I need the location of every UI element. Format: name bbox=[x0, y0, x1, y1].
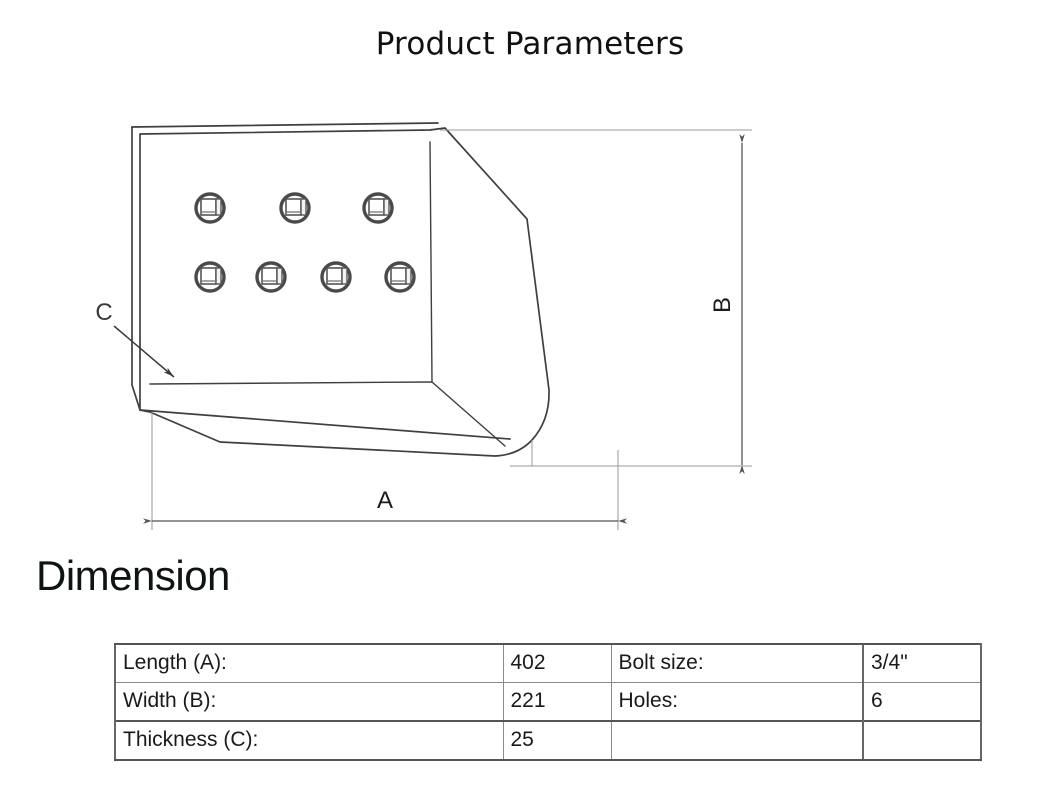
dimension-line-a: A bbox=[152, 487, 618, 521]
cell-thickness-label: Thickness (C): bbox=[115, 721, 503, 760]
plate-left-thickness-edge bbox=[132, 127, 140, 410]
dimension-label-c: C bbox=[95, 299, 112, 326]
cell-length-value: 402 bbox=[503, 644, 611, 683]
bolt-hole bbox=[196, 194, 224, 222]
cell-length-label: Length (A): bbox=[115, 644, 503, 683]
table-row: Length (A): 402 Bolt size: 3/4" bbox=[115, 644, 981, 683]
dimension-table: Length (A): 402 Bolt size: 3/4" Width (B… bbox=[114, 643, 982, 761]
bolt-hole-group-top bbox=[196, 194, 392, 222]
bolt-hole-group-bottom bbox=[196, 263, 414, 291]
bolt-hole bbox=[257, 263, 285, 291]
product-drawing-svg: A B C bbox=[40, 90, 1020, 550]
bolt-hole bbox=[281, 194, 309, 222]
thickness-callout-c: C bbox=[95, 299, 174, 377]
table-row: Thickness (C): 25 bbox=[115, 721, 981, 760]
cell-holes-label: Holes: bbox=[611, 683, 863, 722]
dimension-line-b: B bbox=[709, 143, 742, 465]
witness-lines bbox=[152, 130, 752, 530]
plate-front-face-outline bbox=[140, 128, 549, 456]
bolt-hole bbox=[196, 263, 224, 291]
plate-lower-bend-crease bbox=[150, 382, 432, 384]
bolt-hole bbox=[386, 263, 414, 291]
cell-empty-label bbox=[611, 721, 863, 760]
bolt-hole bbox=[322, 263, 350, 291]
table-row: Width (B): 221 Holes: 6 bbox=[115, 683, 981, 722]
bolt-hole bbox=[364, 194, 392, 222]
leader-line-c bbox=[114, 326, 174, 377]
page-title: Product Parameters bbox=[0, 26, 1060, 62]
dimension-label-a: A bbox=[377, 487, 393, 514]
cell-thickness-value: 25 bbox=[503, 721, 611, 760]
plate-interior-vertical-crease bbox=[430, 142, 432, 382]
plate-top-back-edge bbox=[132, 123, 438, 127]
cell-empty-value bbox=[863, 721, 981, 760]
cell-bolt-size-label: Bolt size: bbox=[611, 644, 863, 683]
plate-lower-front-edge bbox=[140, 410, 510, 439]
cell-holes-value: 6 bbox=[863, 683, 981, 722]
cell-width-value: 221 bbox=[503, 683, 611, 722]
section-heading-dimension: Dimension bbox=[36, 552, 230, 600]
dimension-label-b: B bbox=[709, 297, 736, 313]
cell-width-label: Width (B): bbox=[115, 683, 503, 722]
dimension-table-wrapper: Length (A): 402 Bolt size: 3/4" Width (B… bbox=[114, 643, 980, 761]
product-drawing: A B C bbox=[40, 90, 1020, 550]
cell-bolt-size-value: 3/4" bbox=[863, 644, 981, 683]
